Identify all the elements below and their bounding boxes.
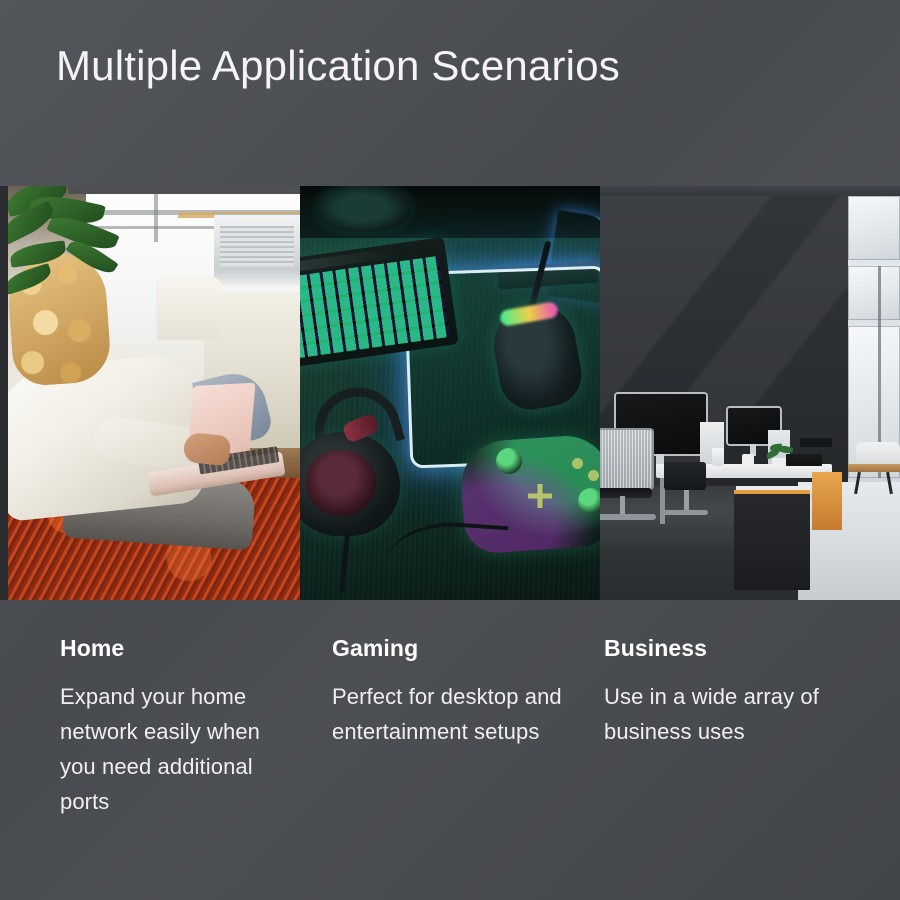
home-air-conditioner bbox=[214, 214, 300, 286]
office-ceiling bbox=[600, 186, 900, 196]
controller-thumbstick bbox=[496, 448, 522, 474]
office-lounge-sofa bbox=[856, 442, 900, 466]
gaming-headset bbox=[300, 384, 420, 540]
headset-earpad bbox=[306, 450, 376, 516]
air-conditioner-grille bbox=[220, 226, 294, 266]
coffee-cup bbox=[742, 454, 754, 465]
chair-mesh-back bbox=[600, 430, 652, 488]
column-body-gaming: Perfect for desktop and entertainment se… bbox=[332, 679, 564, 749]
scenario-image-home bbox=[8, 186, 300, 600]
office-chair bbox=[658, 462, 708, 524]
gaming-speaker bbox=[316, 186, 412, 232]
scenario-column-gaming: Gaming Perfect for desktop and entertain… bbox=[332, 636, 604, 900]
chair-post bbox=[684, 490, 689, 512]
business-photo bbox=[600, 186, 900, 600]
column-body-business: Use in a wide array of business uses bbox=[604, 679, 854, 749]
page-title: Multiple Application Scenarios bbox=[56, 42, 816, 90]
chair-base bbox=[600, 514, 656, 520]
office-window-pane bbox=[848, 266, 900, 320]
desk-tray bbox=[786, 454, 822, 466]
keypad-keys bbox=[300, 256, 450, 359]
chair-seat bbox=[600, 488, 652, 498]
office-cabinet bbox=[734, 494, 810, 590]
coffee-cup bbox=[712, 448, 724, 466]
office-bench bbox=[848, 464, 900, 472]
application-scenarios-graphic: Multiple Application Scenarios bbox=[0, 0, 900, 900]
scenario-image-business bbox=[600, 186, 900, 600]
column-title-gaming: Gaming bbox=[332, 636, 604, 661]
gaming-photo bbox=[300, 186, 600, 600]
office-chair bbox=[600, 430, 654, 516]
scenario-column-business: Business Use in a wide array of business… bbox=[604, 636, 884, 900]
column-title-business: Business bbox=[604, 636, 884, 661]
home-potted-plant bbox=[8, 186, 134, 302]
scenario-image-strip bbox=[0, 186, 900, 600]
controller-button bbox=[588, 470, 599, 481]
chair-base bbox=[662, 510, 708, 515]
home-window-mullion bbox=[154, 190, 158, 242]
column-title-home: Home bbox=[60, 636, 332, 661]
column-body-home: Expand your home network easily when you… bbox=[60, 679, 292, 819]
office-window-pane bbox=[848, 196, 900, 260]
chair-back bbox=[664, 462, 706, 490]
home-person-hand bbox=[183, 432, 232, 467]
home-photo bbox=[8, 186, 300, 600]
desk-tray bbox=[800, 438, 832, 447]
home-sofa-cushion bbox=[158, 278, 222, 340]
controller-dpad bbox=[528, 484, 552, 508]
left-edge-strip bbox=[0, 186, 8, 600]
controller-thumbstick bbox=[578, 488, 600, 514]
controller-button bbox=[572, 458, 583, 469]
scenario-column-home: Home Expand your home network easily whe… bbox=[60, 636, 332, 900]
scenario-captions: Home Expand your home network easily whe… bbox=[0, 636, 900, 900]
plant-leaf bbox=[9, 240, 67, 268]
scenario-image-gaming bbox=[300, 186, 600, 600]
office-cabinet bbox=[812, 472, 842, 530]
plant-leaf bbox=[8, 263, 54, 295]
chair-post bbox=[620, 496, 625, 516]
